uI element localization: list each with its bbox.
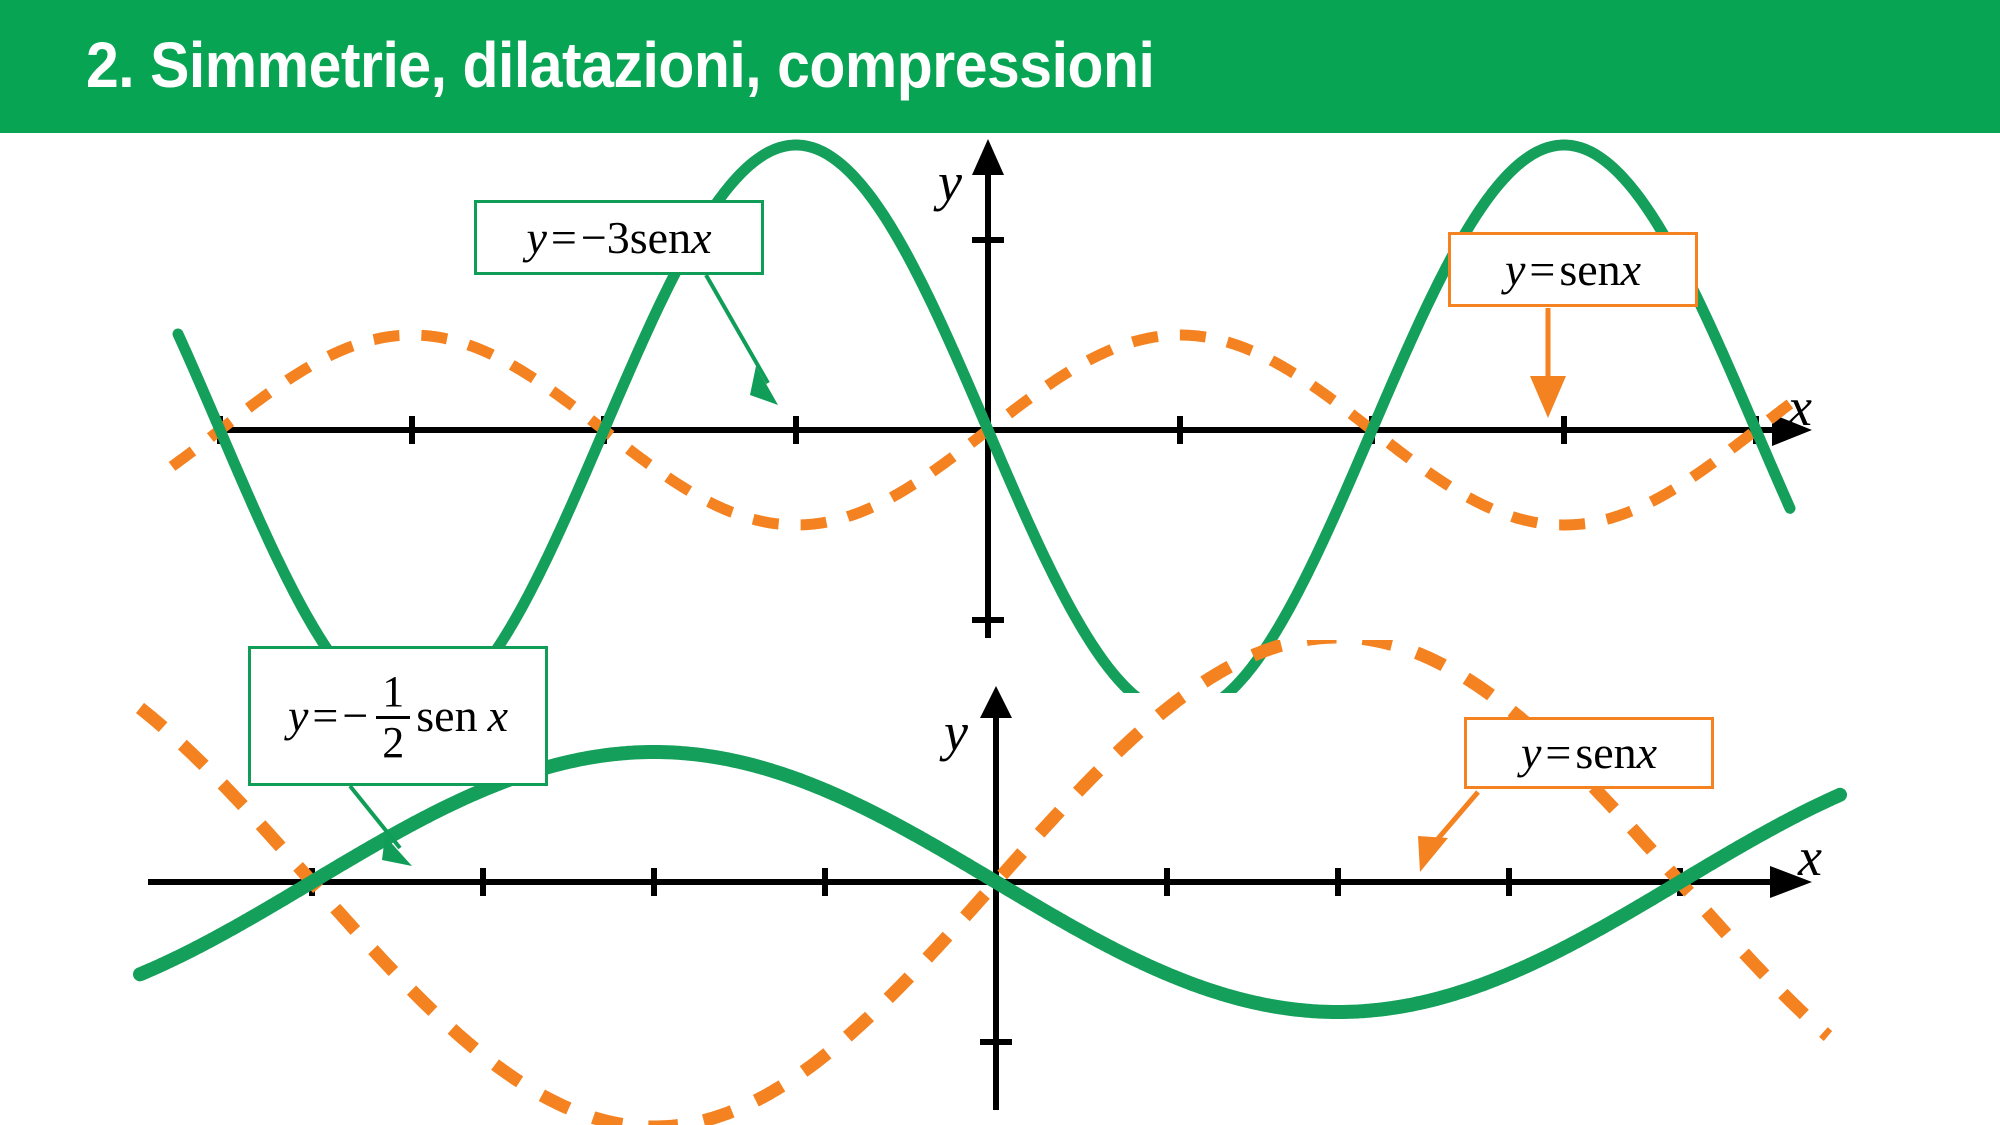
formula-argument: x <box>691 212 711 263</box>
formula-equals: = <box>1525 244 1559 295</box>
upper-axes <box>220 139 1812 638</box>
leader-lower-orange <box>1418 792 1478 872</box>
formula-equals: = <box>308 693 342 739</box>
formula-equals: = <box>547 212 581 263</box>
axis-label-x-upper: x <box>1788 380 1812 434</box>
fraction-denominator: 2 <box>382 722 404 764</box>
formula-label-lower-orange: y=senx <box>1464 717 1714 789</box>
formula-variable-y: y <box>526 212 546 263</box>
formula-variable-y: y <box>288 693 308 739</box>
formula-coefficient: −3 <box>581 212 630 263</box>
axis-label-x-lower: x <box>1798 830 1822 884</box>
formula-fraction: 12 <box>376 671 410 764</box>
formula-label-lower-green: y=−12senx <box>248 646 548 786</box>
slide-canvas: 2. Simmetrie, dilatazioni, compressioni <box>0 0 2000 1125</box>
page-title: 2. Simmetrie, dilatazioni, compressioni <box>86 28 1154 102</box>
formula-equals: = <box>1541 727 1575 778</box>
slide-header-bar: 2. Simmetrie, dilatazioni, compressioni <box>0 0 2000 133</box>
leader-upper-orange <box>1530 308 1566 418</box>
formula-variable-y: y <box>1521 727 1541 778</box>
formula-minus-sign: − <box>342 693 370 739</box>
formula-function: sen <box>1575 727 1636 778</box>
fraction-numerator: 1 <box>382 671 404 713</box>
formula-function: sen <box>630 212 691 263</box>
formula-function: sen <box>416 693 477 739</box>
formula-argument: x <box>1621 244 1641 295</box>
formula-argument: x <box>1637 727 1657 778</box>
chart-upper-svg <box>0 133 2000 693</box>
formula-variable-y: y <box>1505 244 1525 295</box>
leader-upper-green <box>706 275 778 405</box>
formula-function: sen <box>1559 244 1620 295</box>
chart-upper <box>0 133 2000 693</box>
formula-label-upper-green: y=−3senx <box>474 200 764 275</box>
axis-label-y-lower: y <box>944 705 968 759</box>
axis-label-y-upper: y <box>938 155 962 209</box>
formula-label-upper-orange: y=senx <box>1448 232 1698 307</box>
formula-argument: x <box>478 693 508 739</box>
curve-neg3sen-upper <box>178 145 1790 693</box>
